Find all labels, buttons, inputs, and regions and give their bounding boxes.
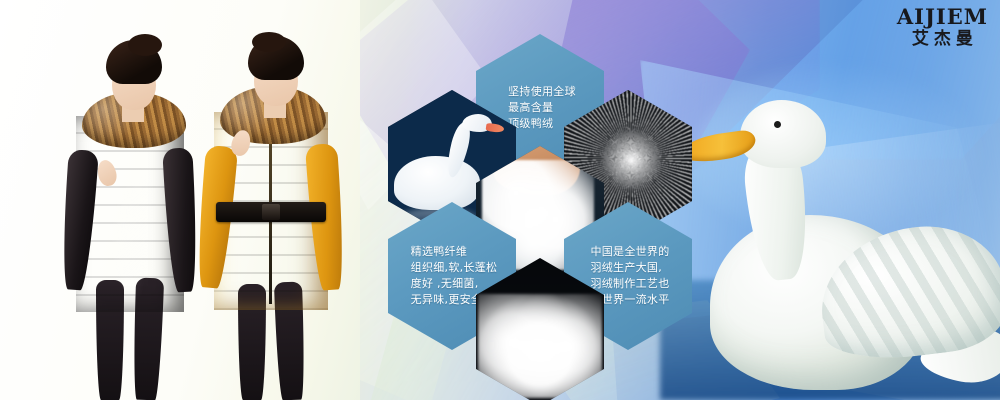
hex-top-text-label: 坚持使用全球 最高含量 顶级鸭绒 (504, 84, 576, 132)
model-gold-coat (182, 0, 360, 400)
model-gold-belt-buckle (262, 204, 280, 220)
model-black-hair-bun (128, 34, 162, 56)
brand-logo[interactable]: AIJIEM 艾杰曼 (897, 6, 988, 49)
duck-photo (670, 70, 1000, 400)
promo-banner: 坚持使用全球 最高含量 顶级鸭绒 精选鸭纤维 组织细,软,长蓬松 度好 ,无细菌… (0, 0, 1000, 400)
hexagon-honeycomb: 坚持使用全球 最高含量 顶级鸭绒 精选鸭纤维 组织细,软,长蓬松 度好 ,无细菌… (380, 34, 700, 374)
models-photo (0, 0, 360, 400)
swan-body (394, 156, 480, 210)
model-gold-hair-bun (252, 32, 286, 52)
brand-name-en: AIJIEM (897, 6, 988, 28)
model-black-coat-highlight (116, 180, 170, 300)
brand-name-cn: 艾杰曼 (897, 29, 988, 49)
duck-eye (774, 121, 781, 128)
